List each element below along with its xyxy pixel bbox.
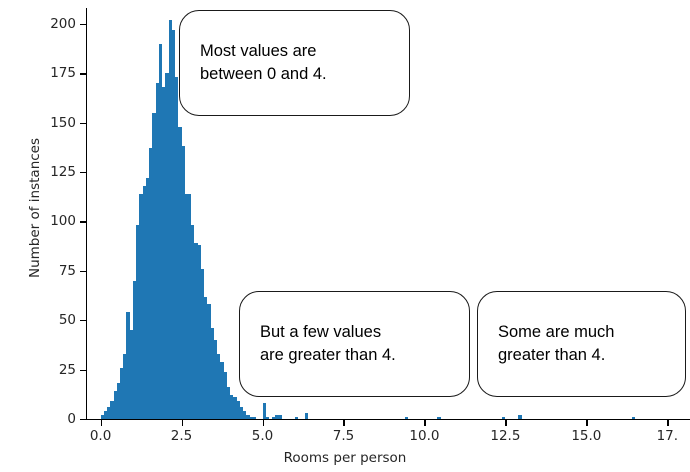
y-tick-mark <box>80 24 86 25</box>
x-tick-mark <box>424 420 425 426</box>
x-tick-label: 2.5 <box>171 428 192 444</box>
annotation-line: Most values are <box>200 40 389 63</box>
y-axis-label: Number of instances <box>27 78 43 338</box>
x-tick-mark <box>586 420 587 426</box>
annotation-line: Some are much <box>498 321 665 344</box>
y-tick-label: 100 <box>50 213 76 229</box>
y-tick-mark <box>80 73 86 74</box>
y-tick-label: 125 <box>50 164 76 180</box>
y-tick-label: 25 <box>59 362 76 378</box>
y-tick-mark <box>80 320 86 321</box>
x-tick-label: 5.0 <box>252 428 273 444</box>
x-tick-mark <box>343 420 344 426</box>
y-tick-label: 50 <box>59 312 76 328</box>
histogram-figure: 0255075100125150175200 0.02.55.07.510.01… <box>0 0 690 472</box>
annotation-callout-some-much-greater: Some are much greater than 4. <box>477 291 686 397</box>
y-tick-mark <box>80 221 86 222</box>
annotation-callout-most-values: Most values are between 0 and 4. <box>179 10 410 116</box>
x-axis-label: Rooms per person <box>0 450 690 466</box>
y-tick-mark <box>80 419 86 420</box>
x-tick-mark <box>182 420 183 426</box>
y-tick-label: 175 <box>50 65 76 81</box>
annotation-line: between 0 and 4. <box>200 63 389 86</box>
y-tick-label: 150 <box>50 115 76 131</box>
y-axis-spine <box>86 8 87 419</box>
y-tick-label: 200 <box>50 16 76 32</box>
annotation-line: greater than 4. <box>498 344 665 367</box>
x-tick-label: 17. <box>657 428 678 444</box>
x-tick-mark <box>101 420 102 426</box>
x-axis-spine <box>86 419 690 420</box>
y-tick-mark <box>80 370 86 371</box>
annotation-callout-few-values: But a few values are greater than 4. <box>239 291 470 397</box>
annotation-line: But a few values <box>260 321 449 344</box>
y-tick-mark <box>80 172 86 173</box>
y-tick-label: 0 <box>67 411 76 427</box>
x-tick-label: 15.0 <box>571 428 601 444</box>
y-tick-mark <box>80 123 86 124</box>
x-tick-label: 7.5 <box>333 428 354 444</box>
annotation-line: are greater than 4. <box>260 344 449 367</box>
x-tick-mark <box>263 420 264 426</box>
x-tick-label: 0.0 <box>90 428 111 444</box>
x-tick-label: 10.0 <box>409 428 439 444</box>
x-tick-label: 12.5 <box>490 428 520 444</box>
y-tick-mark <box>80 271 86 272</box>
y-tick-label: 75 <box>59 263 76 279</box>
x-tick-mark <box>667 420 668 426</box>
x-tick-mark <box>505 420 506 426</box>
